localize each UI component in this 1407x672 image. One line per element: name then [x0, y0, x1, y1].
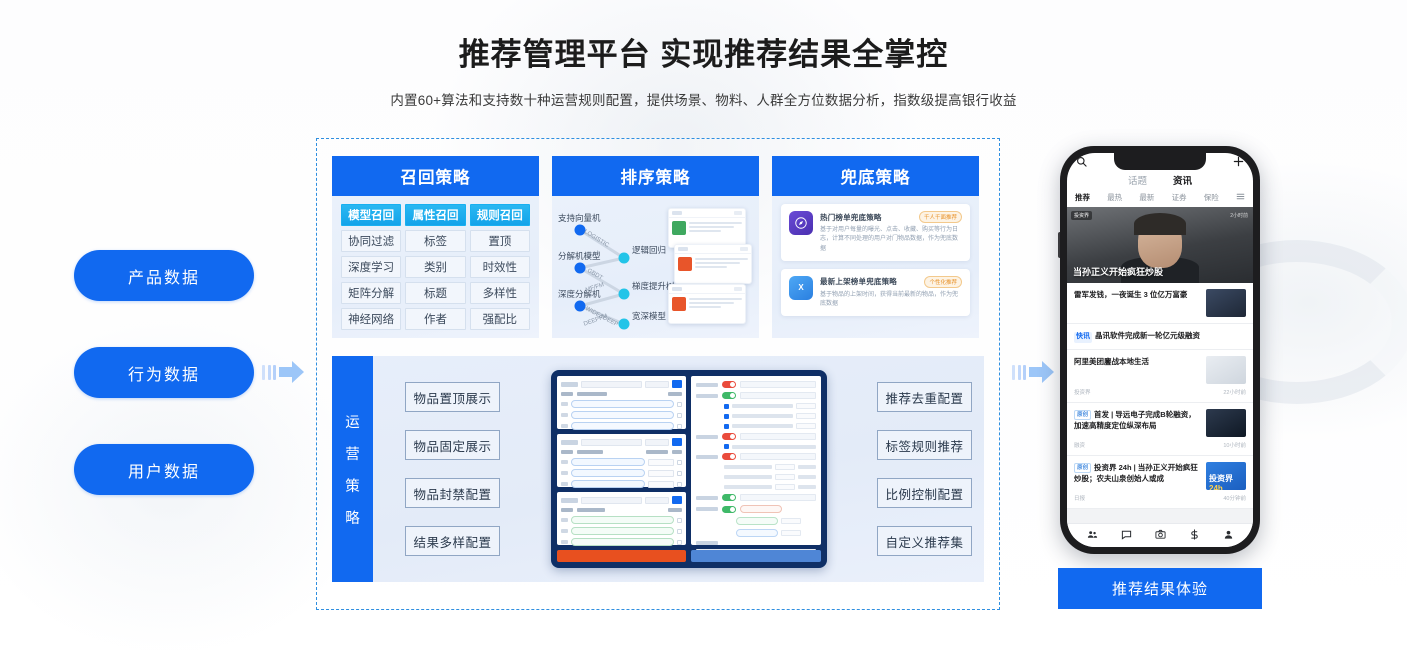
- recall-cell[interactable]: 神经网络: [341, 308, 401, 330]
- recall-cell[interactable]: 类别: [405, 256, 465, 278]
- recall-header-cell[interactable]: 属性召回: [405, 204, 465, 226]
- hamburger-icon[interactable]: [1236, 192, 1245, 203]
- calendar-24h-icon: X: [789, 276, 813, 300]
- fallback-card-title: 最新上架榜单兜底策略: [820, 276, 897, 287]
- recall-cell[interactable]: 协同过滤: [341, 230, 401, 252]
- cta-label: 推荐结果体验: [1112, 578, 1208, 599]
- list-item[interactable]: 雷军发钱，一夜诞生 3 位亿万富豪: [1067, 283, 1253, 324]
- fallback-card[interactable]: 热门榜单兜底策略 千人千面推荐 基于对用户每量的曝光、点击、收藏、购买等行为日志…: [781, 204, 970, 261]
- operations-label-char: 策: [345, 475, 360, 496]
- feed-item-source: 投资界: [1074, 388, 1091, 396]
- feed-item-text: 快讯晶讯软件完成新一轮亿元级融资: [1074, 330, 1246, 343]
- list-item[interactable]: 原创首发 | 导远电子完成B轮融资，加速高精度定位纵深布局 融资 10小时前: [1067, 403, 1253, 456]
- panel-body: 模型召回 属性召回 规则召回 协同过滤 标签 置顶 深度学习 类别 时效性 矩阵…: [332, 196, 539, 338]
- panel-title: 兜底策略: [772, 156, 979, 196]
- pill-behavior-data[interactable]: 行为数据: [74, 347, 254, 398]
- message-icon[interactable]: [1121, 529, 1132, 543]
- mock-table-block: [557, 492, 687, 545]
- thumbnail-overlay-text: 投资界24h: [1209, 473, 1246, 490]
- tab-topics[interactable]: 话题: [1128, 173, 1147, 187]
- rank-left-node-label: 支持向量机: [558, 212, 601, 224]
- hero-tag: 投资界: [1071, 211, 1092, 220]
- original-badge: 原创: [1074, 410, 1091, 420]
- mock-form-block: [691, 376, 821, 545]
- operations-section-label: 运 营 策 略: [332, 356, 373, 582]
- feed-item-time: 22小时前: [1223, 388, 1246, 396]
- camera-icon[interactable]: [1155, 529, 1166, 543]
- rank-preview-card: [668, 284, 746, 324]
- nav-recommend[interactable]: 推荐: [1075, 192, 1090, 203]
- panel-title: 排序策略: [552, 156, 759, 196]
- panel-body: 热门榜单兜底策略 千人千面推荐 基于对用户每量的曝光、点击、收藏、购买等行为日志…: [772, 196, 979, 338]
- rank-preview-card: [674, 244, 752, 284]
- status-badge: 千人千面推荐: [919, 211, 962, 223]
- phone-feed[interactable]: 投资界 2小时前 当孙正义开始疯狂炒股 雷军发钱，一夜诞生 3 位亿万富豪 快讯…: [1067, 207, 1253, 523]
- mock-table-block: [557, 434, 687, 487]
- ops-button-item-fixed[interactable]: 物品固定展示: [405, 430, 500, 460]
- panel-body: 支持向量机 分解机模型 深度分解机 逻辑回归 梯度提升树 宽深模型 LOGIST…: [552, 196, 759, 338]
- operations-label-char: 略: [345, 507, 360, 528]
- recall-cell[interactable]: 置顶: [470, 230, 530, 252]
- arrow-head-icon: [279, 360, 305, 384]
- ops-button-dedup[interactable]: 推荐去重配置: [877, 382, 972, 412]
- nav-newest[interactable]: 最新: [1139, 192, 1154, 203]
- recommendation-experience-button[interactable]: 推荐结果体验: [1058, 568, 1262, 609]
- fallback-card-title: 热门榜单兜底策略: [820, 212, 882, 223]
- kuaixun-badge: 快讯: [1074, 332, 1092, 343]
- feed-hero-item[interactable]: 投资界 2小时前 当孙正义开始疯狂炒股: [1067, 207, 1253, 283]
- ops-button-result-diversity[interactable]: 结果多样配置: [405, 526, 500, 556]
- flow-arrow-left-icon: [262, 360, 305, 384]
- recall-cell[interactable]: 深度学习: [341, 256, 401, 278]
- fallback-card-desc: 基于对用户每量的曝光、点击、收藏、购买等行为日志，计算不同处理的用户对门物品数据…: [820, 226, 962, 254]
- fallback-card-header: 最新上架榜单兜底策略 个性化推荐: [820, 276, 962, 288]
- nav-insurance[interactable]: 保险: [1204, 192, 1219, 203]
- feed-item-source: 融资: [1074, 441, 1085, 449]
- money-icon[interactable]: [1189, 529, 1200, 543]
- pill-label: 行为数据: [128, 361, 200, 385]
- arrow-trail: [262, 365, 276, 380]
- original-badge: 原创: [1074, 463, 1091, 473]
- hero-title: 当孙正义开始疯狂炒股: [1073, 265, 1163, 278]
- list-item[interactable]: 阿里美团鏖战本地生活 投资界 22小时前: [1067, 350, 1253, 403]
- ops-button-ratio-control[interactable]: 比例控制配置: [877, 478, 972, 508]
- fallback-card-text: 热门榜单兜底策略 千人千面推荐 基于对用户每量的曝光、点击、收藏、购买等行为日志…: [820, 211, 962, 254]
- mock-table-block: [557, 376, 687, 429]
- feed-item-title: 投资界 24h | 当孙正义开始疯狂炒股；农夫山泉创始人或成: [1074, 463, 1198, 483]
- feed-item-text: 阿里美团鏖战本地生活: [1074, 356, 1200, 367]
- recall-cell[interactable]: 时效性: [470, 256, 530, 278]
- panel-recall-strategy: 召回策略 模型召回 属性召回 规则召回 协同过滤 标签 置顶 深度学习 类别 时…: [332, 156, 539, 338]
- fallback-card-desc: 基于物品的上架时间，获得当前最新的物品，作为兜底数据: [820, 291, 962, 310]
- recall-cell[interactable]: 矩阵分解: [341, 282, 401, 304]
- feed-item-time: 10小时前: [1223, 441, 1246, 449]
- phone-screen: 话题 资讯 推荐 最热 最新 证券 保险 投资界 2小时前 当孙正义开始疯狂炒股: [1067, 153, 1253, 547]
- operations-section: 运 营 策 略 物品置顶展示 物品固定展示 物品封禁配置 结果多样配置: [332, 356, 984, 582]
- recall-cell[interactable]: 标签: [405, 230, 465, 252]
- pill-label: 用户数据: [128, 458, 200, 482]
- ops-button-item-ban[interactable]: 物品封禁配置: [405, 478, 500, 508]
- operations-label-char: 营: [345, 443, 360, 464]
- phone-statusbar: [1067, 153, 1253, 172]
- compass-icon: [789, 211, 813, 235]
- recall-cell[interactable]: 多样性: [470, 282, 530, 304]
- feed-item-thumbnail: 投资界24h: [1206, 462, 1246, 490]
- panel-rank-strategy: 排序策略 支持向量机 分解机模型 深度分解机: [552, 156, 759, 338]
- recall-header-cell[interactable]: 规则召回: [470, 204, 530, 226]
- feed-item-title: 晶讯软件完成新一轮亿元级融资: [1095, 331, 1200, 340]
- tab-news[interactable]: 资讯: [1173, 173, 1192, 187]
- operations-right-buttons: 推荐去重配置 标签规则推荐 比例控制配置 自定义推荐集: [877, 382, 972, 556]
- ops-button-custom-set[interactable]: 自定义推荐集: [877, 526, 972, 556]
- recall-grid: 模型召回 属性召回 规则召回 协同过滤 标签 置顶 深度学习 类别 时效性 矩阵…: [341, 204, 530, 330]
- nav-securities[interactable]: 证券: [1172, 192, 1187, 203]
- hero-face: [1138, 218, 1182, 268]
- panel-title: 召回策略: [332, 156, 539, 196]
- feed-item-thumbnail: [1206, 409, 1246, 437]
- arrow-head-icon: [1029, 360, 1055, 384]
- list-item[interactable]: 原创投资界 24h | 当孙正义开始疯狂炒股；农夫山泉创始人或成 投资界24h …: [1067, 456, 1253, 509]
- fallback-card-text: 最新上架榜单兜底策略 个性化推荐 基于物品的上架时间，获得当前最新的物品，作为兜…: [820, 276, 962, 310]
- recall-cell[interactable]: 标题: [405, 282, 465, 304]
- feed-item-text: 原创投资界 24h | 当孙正义开始疯狂炒股；农夫山泉创始人或成: [1074, 462, 1200, 485]
- phone-tabbar: [1067, 523, 1253, 547]
- rank-preview-card: [668, 208, 746, 248]
- recall-header-cell[interactable]: 模型召回: [341, 204, 401, 226]
- ops-button-item-pin[interactable]: 物品置顶展示: [405, 382, 500, 412]
- phone-nav: 推荐 最热 最新 证券 保险: [1067, 190, 1253, 207]
- operations-content: 物品置顶展示 物品固定展示 物品封禁配置 结果多样配置: [373, 356, 984, 582]
- arrow-trail: [1012, 365, 1026, 380]
- page-subtitle: 内置60+算法和支持数十种运营规则配置，提供场景、物料、人群全方位数据分析，指数…: [0, 89, 1407, 109]
- panel-fallback-strategy: 兜底策略 热门榜单兜底策略 千人千面推荐 基于对用户每量的曝光、点击、收藏、购买…: [772, 156, 979, 338]
- fallback-card-header: 热门榜单兜底策略 千人千面推荐: [820, 211, 962, 223]
- pill-user-data[interactable]: 用户数据: [74, 444, 254, 495]
- page-title: 推荐管理平台 实现推荐结果全掌控: [0, 36, 1407, 75]
- mock-operations-config: [557, 376, 687, 562]
- hero-timestamp: 2小时前: [1230, 212, 1248, 219]
- flow-arrow-right-icon: [1012, 360, 1055, 384]
- recall-cell[interactable]: 强配比: [470, 308, 530, 330]
- feed-item-thumbnail: [1206, 289, 1246, 317]
- plus-icon[interactable]: [1233, 156, 1244, 169]
- feed-item-title: 首发 | 导远电子完成B轮融资，加速高精度定位纵深布局: [1074, 410, 1196, 430]
- mock-cta-rules[interactable]: [691, 550, 821, 562]
- feed-item-text: 原创首发 | 导远电子完成B轮融资，加速高精度定位纵深布局: [1074, 409, 1200, 432]
- rank-diagram: 支持向量机 分解机模型 深度分解机 逻辑回归 梯度提升树 宽深模型 LOGIST…: [552, 196, 759, 338]
- search-icon[interactable]: [1076, 156, 1087, 169]
- mock-rule-config: [691, 376, 821, 562]
- ops-button-tag-rule[interactable]: 标签规则推荐: [877, 430, 972, 460]
- profile-icon[interactable]: [1223, 529, 1234, 543]
- pill-label: 产品数据: [128, 264, 200, 288]
- phone-tabs: 话题 资讯: [1067, 172, 1253, 190]
- feed-item-time: 40分钟前: [1223, 494, 1246, 502]
- feed-item-thumbnail: [1206, 356, 1246, 384]
- data-source-list: 产品数据 行为数据 用户数据: [74, 250, 254, 495]
- fallback-card[interactable]: X 最新上架榜单兜底策略 个性化推荐 基于物品的上架时间，获得当前最新的物品，作…: [781, 269, 970, 317]
- product-screenshot-group: [551, 370, 827, 568]
- phone-mockup: 话题 资讯 推荐 最热 最新 证券 保险 投资界 2小时前 当孙正义开始疯狂炒股: [1060, 146, 1260, 554]
- operations-left-buttons: 物品置顶展示 物品固定展示 物品封禁配置 结果多样配置: [405, 382, 500, 556]
- group-icon[interactable]: [1087, 529, 1098, 543]
- strategy-panels: 召回策略 模型召回 属性召回 规则召回 协同过滤 标签 置顶 深度学习 类别 时…: [332, 156, 979, 338]
- feed-item-text: 雷军发钱，一夜诞生 3 位亿万富豪: [1074, 289, 1200, 300]
- status-badge: 个性化推荐: [924, 276, 962, 288]
- feed-item-source: 日报: [1074, 494, 1085, 502]
- operations-label-char: 运: [345, 411, 360, 432]
- rank-right-node-label: 宽深模型: [632, 310, 666, 322]
- page-header: 推荐管理平台 实现推荐结果全掌控 内置60+算法和支持数十种运营规则配置，提供场…: [0, 36, 1407, 109]
- recall-cell[interactable]: 作者: [405, 308, 465, 330]
- rank-right-node-label: 逻辑回归: [632, 244, 666, 256]
- mock-cta-operations[interactable]: [557, 550, 687, 562]
- list-item[interactable]: 快讯晶讯软件完成新一轮亿元级融资: [1067, 324, 1253, 350]
- pill-product-data[interactable]: 产品数据: [74, 250, 254, 301]
- nav-hottest[interactable]: 最热: [1107, 192, 1122, 203]
